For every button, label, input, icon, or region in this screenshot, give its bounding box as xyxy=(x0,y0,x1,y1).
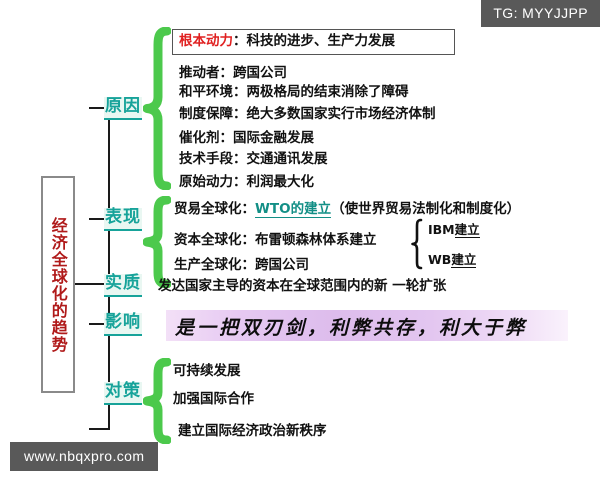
branch-label-countermeasure[interactable]: 对策 xyxy=(104,382,142,405)
countermeasure-item-1: 加强国际合作 xyxy=(173,392,254,407)
branch-label-impact[interactable]: 影响 xyxy=(104,313,142,336)
cause-item-4: 催化剂：国际金融发展 xyxy=(179,131,314,146)
cause-item-5-sep: ： xyxy=(233,151,247,167)
essence-text: 发达国家主导的资本在全球范围内的新 一轮扩张 xyxy=(158,279,446,294)
institution-item-0-suffix: 建立 xyxy=(455,222,480,238)
cause-item-2-sep: ： xyxy=(233,84,247,100)
cause-item-2-key: 和平环境 xyxy=(179,84,233,100)
cause-item-3-sep: ： xyxy=(233,106,247,122)
manifestation-item-2-sep: ： xyxy=(242,257,256,273)
institution-item-0: IBM建立 xyxy=(428,219,480,238)
manifestation-item-0-key: 贸易全球化 xyxy=(174,201,242,217)
cause-item-6-sep: ： xyxy=(233,174,247,190)
root-node-title: 经济全球化的趋势 xyxy=(47,217,68,353)
impact-text: 是一把双刃剑，利弊共存，利大于弊 xyxy=(175,313,561,339)
telegram-tag-overlay: TG: MYYJJPP xyxy=(481,0,600,27)
manifestation-item-0-sep: ： xyxy=(242,201,256,217)
cause-item-0-value: 科技的进步、生产力发展 xyxy=(247,33,396,49)
institution-item-1: WB建立 xyxy=(428,249,476,268)
institution-item-1-suffix: 建立 xyxy=(451,252,476,268)
site-watermark-overlay: www.nbqxpro.com xyxy=(10,442,158,471)
cause-item-0-sep: ： xyxy=(233,33,247,49)
manifestation-item-1-sep: ： xyxy=(242,232,256,248)
green-brace-cause xyxy=(143,27,171,190)
cause-item-4-value: 国际金融发展 xyxy=(233,130,314,146)
cause-item-5: 技术手段：交通通讯发展 xyxy=(179,152,328,167)
branch-label-essence[interactable]: 实质 xyxy=(104,274,142,297)
cause-item-3: 制度保障：绝大多数国家实行市场经济体制 xyxy=(179,107,436,122)
cause-item-1-value: 跨国公司 xyxy=(233,65,287,81)
cause-item-3-value: 绝大多数国家实行市场经济体制 xyxy=(247,106,436,122)
root-node-box: 经济全球化的趋势 xyxy=(41,176,75,393)
institution-item-1-prefix: WB xyxy=(428,252,451,267)
countermeasure-item-2: 建立国际经济政治新秩序 xyxy=(178,424,327,439)
cause-item-2: 和平环境：两极格局的结束消除了障碍 xyxy=(179,85,409,100)
manifestation-item-2-key: 生产全球化 xyxy=(174,257,242,273)
cause-item-2-value: 两极格局的结束消除了障碍 xyxy=(247,84,409,100)
manifestation-item-1-key: 资本全球化 xyxy=(174,232,242,248)
cause-item-5-value: 交通通讯发展 xyxy=(247,151,328,167)
countermeasure-item-0: 可持续发展 xyxy=(173,364,241,379)
mindmap-canvas: TG: MYYJJPP www.nbqxpro.com 经济全球化的趋势 原因 … xyxy=(0,0,600,480)
manifestation-item-0: 贸易全球化：WTO的建立（使世界贸易法制化和制度化） xyxy=(174,202,520,217)
manifestation-item-1-value: 布雷顿森林体系建立 xyxy=(255,232,377,248)
manifestation-item-2-value: 跨国公司 xyxy=(255,257,309,273)
manifestation-item-1: 资本全球化：布雷顿森林体系建立 xyxy=(174,233,377,248)
cause-item-5-key: 技术手段 xyxy=(179,151,233,167)
green-brace-countermeasure xyxy=(143,358,171,444)
branch-stub-countermeasure xyxy=(89,428,110,430)
cause-item-4-key: 催化剂 xyxy=(179,130,220,146)
green-brace-manifestation xyxy=(143,196,171,288)
manifestation-item-2: 生产全球化：跨国公司 xyxy=(174,258,309,273)
cause-item-6-value: 利润最大化 xyxy=(247,174,315,190)
cause-item-6: 原始动力：利润最大化 xyxy=(179,175,314,190)
cause-item-6-key: 原始动力 xyxy=(179,174,233,190)
institution-item-0-prefix: IBM xyxy=(428,222,455,237)
manifestation-item-0-link[interactable]: WTO的建立 xyxy=(255,201,331,218)
cause-item-0: 根本动力：科技的进步、生产力发展 xyxy=(179,34,395,49)
cause-item-4-sep: ： xyxy=(220,130,234,146)
branch-label-manifestation[interactable]: 表现 xyxy=(104,208,142,231)
branch-label-cause[interactable]: 原因 xyxy=(104,97,142,120)
cause-item-1-sep: ： xyxy=(220,65,234,81)
black-brace-institutions xyxy=(411,218,425,270)
cause-item-0-key: 根本动力 xyxy=(179,33,233,49)
cause-item-3-key: 制度保障 xyxy=(179,106,233,122)
manifestation-item-0-value: （使世界贸易法制化和制度化） xyxy=(331,201,520,217)
cause-item-1: 推动者：跨国公司 xyxy=(179,66,287,81)
cause-item-1-key: 推动者 xyxy=(179,65,220,81)
